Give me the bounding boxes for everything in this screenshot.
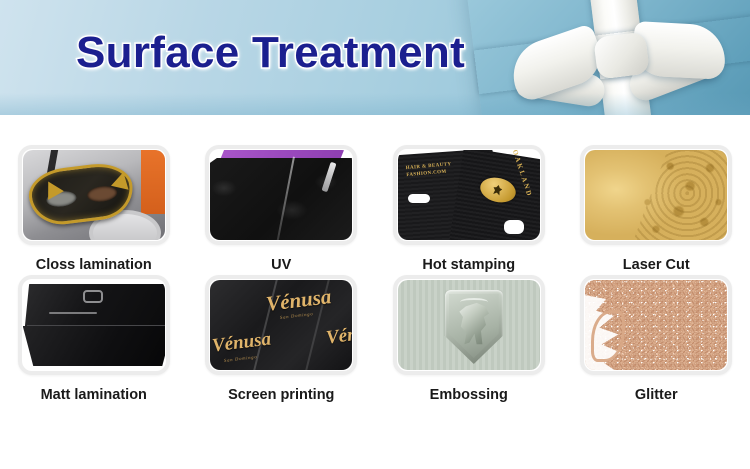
thumbnail-frame[interactable]: Vénusa San Domingo Vénusa San Domingo Vé… [205, 275, 357, 375]
grid-item-glitter[interactable]: Glitter [563, 275, 750, 403]
thumbnail-frame[interactable] [580, 275, 732, 375]
thumbnail-frame[interactable] [393, 275, 545, 375]
treatment-grid: Closs lamination UV [0, 115, 750, 403]
grid-row: Closs lamination UV [0, 145, 750, 273]
gift-box-icon [464, 0, 750, 115]
grid-item-label: Laser Cut [623, 257, 690, 273]
grid-item-laser-cut[interactable]: Laser Cut [563, 145, 750, 273]
venusa-logo-text: Vénusa [211, 328, 272, 357]
grid-item-label: UV [271, 257, 291, 273]
matt-lamination-black-gift-box-photo [23, 280, 165, 370]
embossing-silver-bull-shield-crest-photo [398, 280, 540, 370]
thumbnail-frame[interactable] [205, 145, 357, 245]
thumbnail-frame[interactable] [580, 145, 732, 245]
bow-knot [593, 32, 650, 80]
page-banner: Surface Treatment [0, 0, 750, 115]
grid-item-embossing[interactable]: Embossing [375, 275, 563, 403]
grid-item-label: Embossing [430, 387, 508, 403]
surface-treatment-page: Surface Treatment Closs lami [0, 0, 750, 469]
thumbnail-frame[interactable] [18, 145, 170, 245]
venusa-logo-text: Vénusa [325, 320, 352, 349]
thumbnail-frame[interactable]: HAIR & BEAUTY FASHION.COM OAKLAND [393, 145, 545, 245]
grid-item-screen-printing[interactable]: Vénusa San Domingo Vénusa San Domingo Vé… [188, 275, 376, 403]
grid-item-label: Screen printing [228, 387, 334, 403]
grid-item-hot-stamping[interactable]: HAIR & BEAUTY FASHION.COM OAKLAND Hot st… [375, 145, 563, 273]
screen-printing-venusa-gold-logo-photo: Vénusa San Domingo Vénusa San Domingo Vé… [210, 280, 352, 370]
glitter-rose-gold-texture-photo [585, 280, 727, 370]
grid-item-label: Glitter [635, 387, 678, 403]
uv-coating-black-paisley-folder-photo [210, 150, 352, 240]
grid-item-matt-lamination[interactable]: Matt lamination [0, 275, 188, 403]
grid-item-closs-lamination[interactable]: Closs lamination [0, 145, 188, 273]
thumbnail-frame[interactable] [18, 275, 170, 375]
grid-item-uv[interactable]: UV [188, 145, 376, 273]
grid-item-label: Hot stamping [422, 257, 515, 273]
grid-item-label: Closs lamination [36, 257, 152, 273]
hot-stamping-gold-foil-oakland-card-photo: HAIR & BEAUTY FASHION.COM OAKLAND [398, 150, 540, 240]
grid-row: Matt lamination Vénusa San Domingo Vénus… [0, 275, 750, 403]
laser-cut-gold-lace-invitation-photo [585, 150, 727, 240]
gloss-lamination-venetian-mask-photo [23, 150, 165, 240]
page-title: Surface Treatment [76, 28, 465, 78]
grid-item-label: Matt lamination [41, 387, 147, 403]
